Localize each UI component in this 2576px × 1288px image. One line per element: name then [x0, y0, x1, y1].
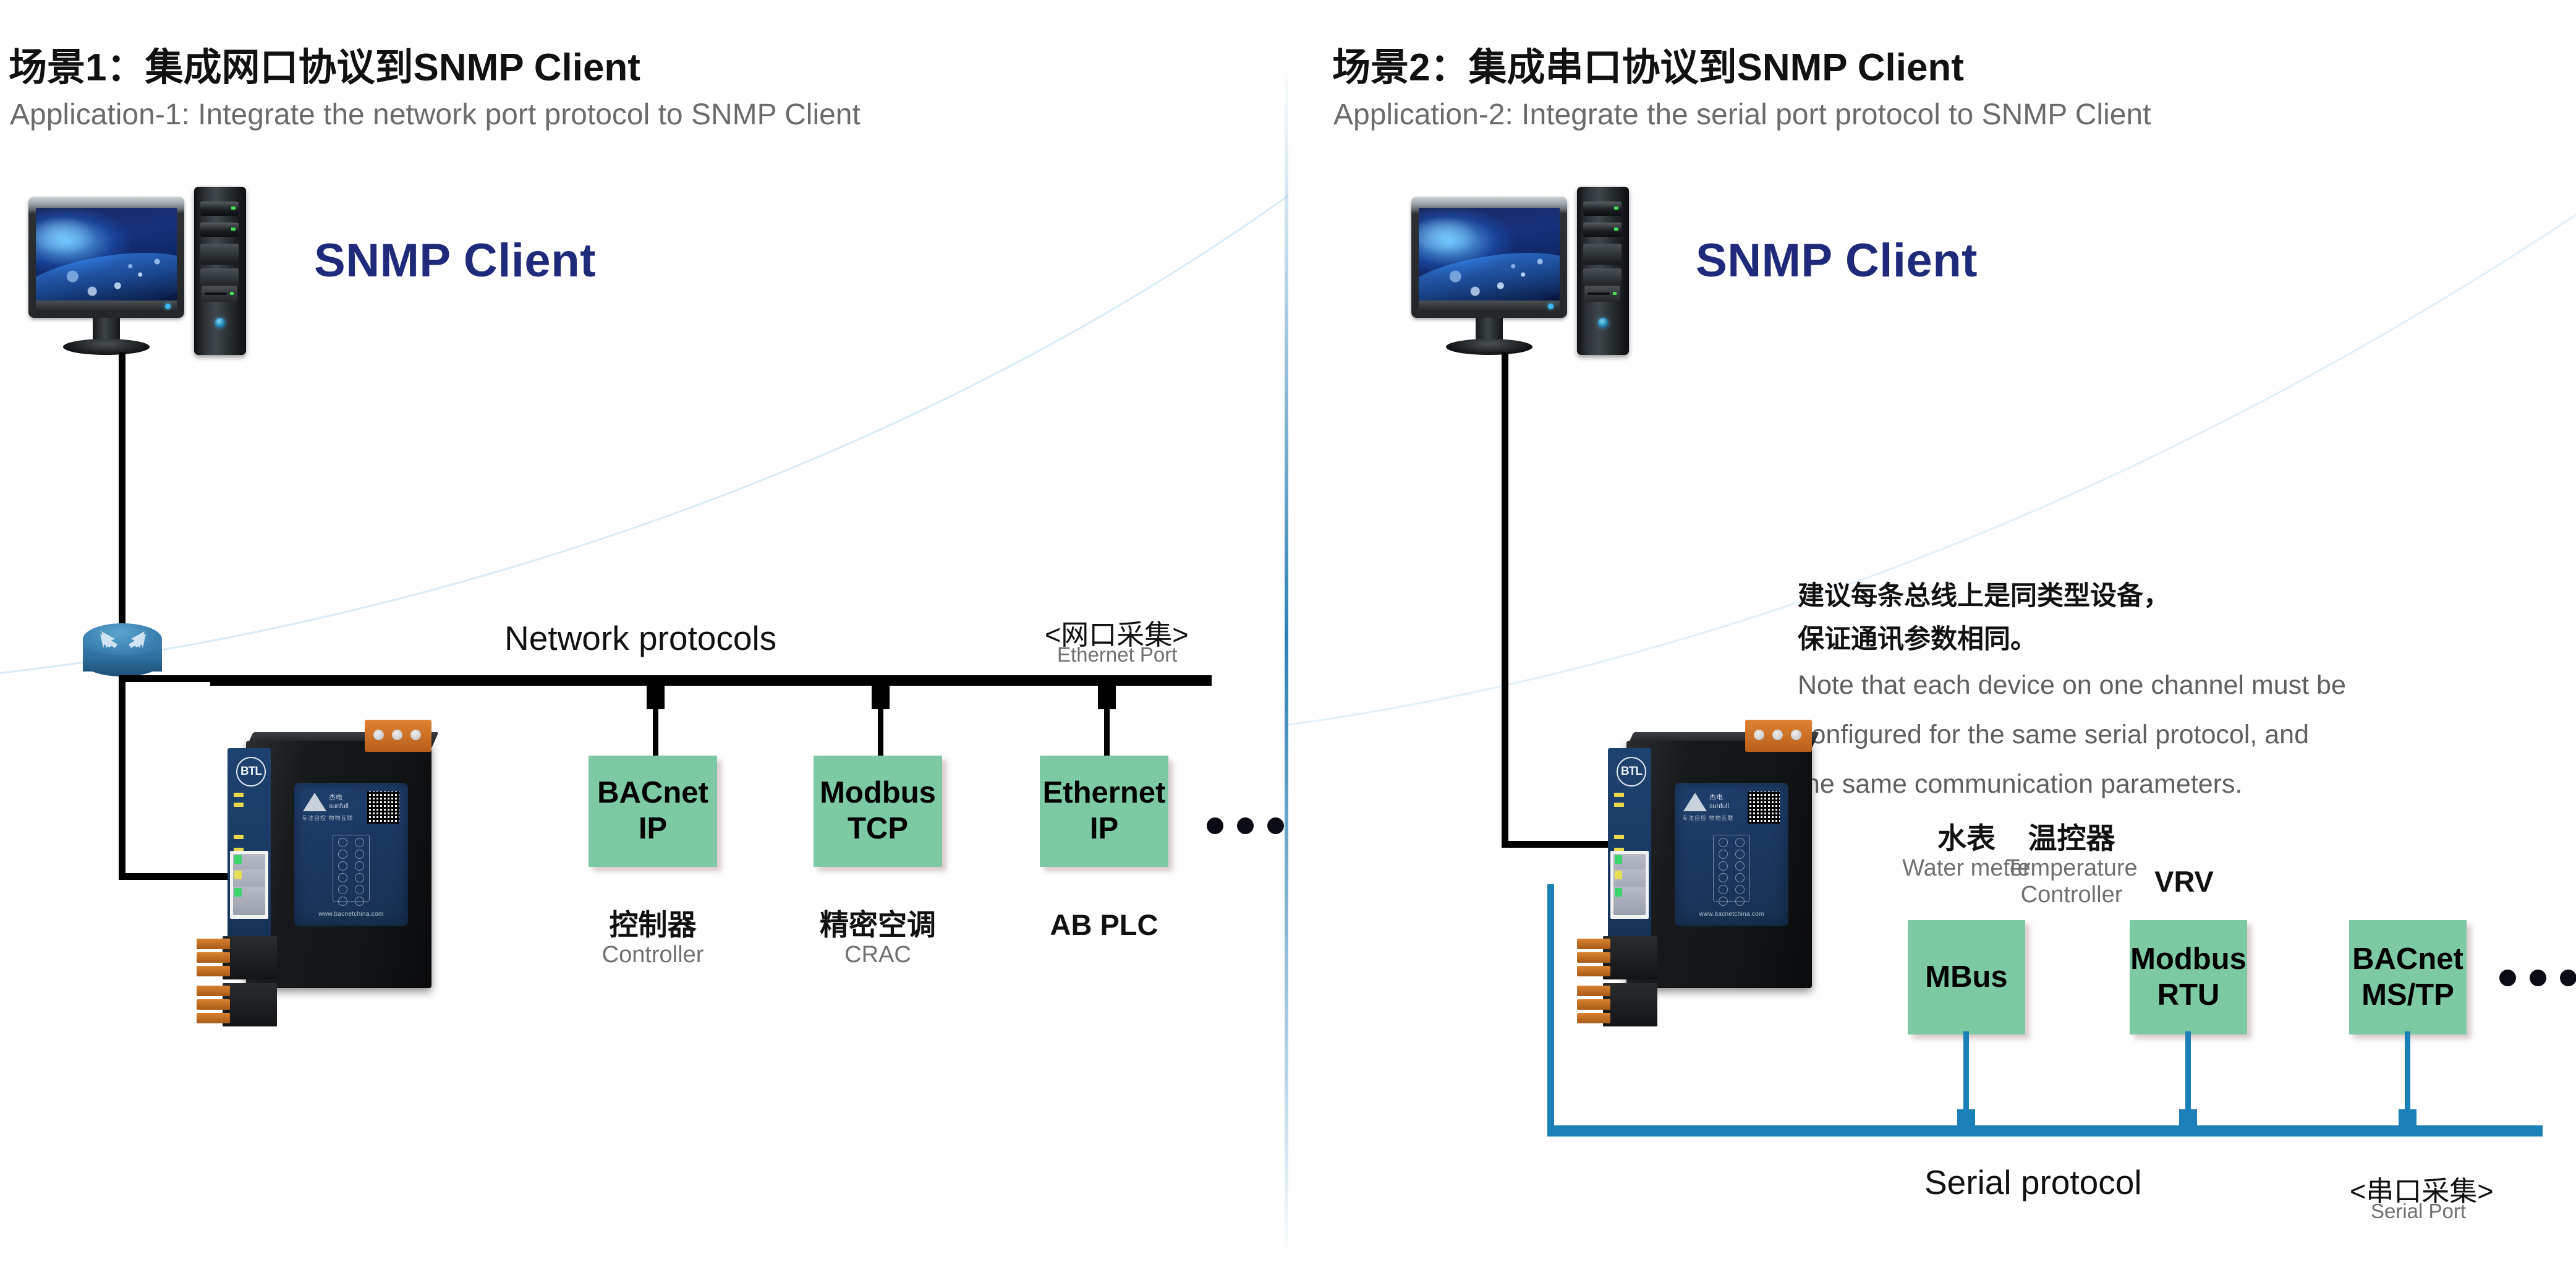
rj45-port-group — [230, 851, 268, 919]
brand-name: 杰电sunfull — [1709, 794, 1729, 811]
rj45-port-group — [1610, 851, 1649, 919]
note-line-en-2: configured for the same serial protocol,… — [1798, 711, 2309, 759]
qr-code — [367, 791, 399, 824]
drop-cable-2 — [878, 683, 883, 757]
serial-bus-riser — [1547, 884, 1554, 1132]
gateway-face-label: 杰电sunfull 专注自控 物物互联 www.bacnetchina.com — [294, 783, 408, 926]
network-protocols-caption: Network protocols — [504, 618, 776, 658]
protocol-box-modbus-rtu[interactable]: Modbus RTU — [2130, 920, 2247, 1034]
power-terminal-block — [365, 720, 431, 752]
btl-certification-logo: BTL — [1617, 757, 1646, 787]
protocol-box-modbus-tcp[interactable]: Modbus TCP — [814, 756, 942, 867]
page-subtitle-en-right: Application-2: Integrate the serial port… — [1333, 98, 2151, 132]
monitor-stand-base — [1446, 339, 1532, 355]
btl-certification-logo: BTL — [236, 757, 266, 787]
note-line-en-3: the same communication parameters. — [1798, 761, 2242, 808]
monitor-stand-base — [63, 339, 150, 355]
vendor-url: www.bacnetchina.com — [294, 911, 408, 918]
monitor-screen — [1419, 208, 1560, 301]
protocol-line-1: Ethernet — [1043, 775, 1166, 811]
ethernet-port-label-en: Ethernet Port — [1057, 643, 1177, 667]
device-name-en: CRAC — [783, 942, 973, 968]
protocol-line-2: IP — [1090, 811, 1118, 847]
serial-protocol-caption: Serial protocol — [1924, 1162, 2142, 1202]
monitor-screen — [36, 208, 177, 301]
vendor-url: www.bacnetchina.com — [1675, 911, 1788, 918]
protocol-line-1: MBus — [1925, 960, 2007, 996]
router-icon-left — [83, 623, 162, 680]
cable-router-to-gateway-left — [119, 675, 125, 879]
serial-terminal-blocks — [197, 936, 266, 1029]
serial-port-label-en: Serial Port — [2371, 1200, 2466, 1223]
protocol-line-1: BACnet — [597, 775, 708, 811]
snmp-client-label-left: SNMP Client — [314, 234, 596, 288]
gateway-face-label: 杰电sunfull 专注自控 物物互联 www.bacnetchina.com — [1675, 783, 1788, 926]
monitor-chin — [36, 301, 177, 312]
terminal-pin-map — [333, 835, 370, 902]
note-line-cn-1: 建议每条总线上是同类型设备， — [1798, 575, 2170, 618]
protocol-line-1: BACnet — [2352, 942, 2463, 978]
protocol-box-mbus[interactable]: MBus — [1908, 920, 2025, 1034]
terminal-pin-map — [1713, 835, 1750, 902]
protocol-box-ethernet-ip[interactable]: Ethernet IP — [1040, 756, 1168, 867]
rj45-port-lan2 — [233, 887, 265, 915]
monitor-icon — [28, 197, 184, 318]
brand-name: 杰电sunfull — [329, 794, 349, 811]
page-subtitle-en-left: Application-1: Integrate the network por… — [10, 98, 861, 132]
serial-bus-line — [1547, 1125, 2543, 1137]
drop-cable-3 — [1104, 683, 1110, 757]
device-name-en: Controller — [558, 942, 748, 968]
device-name-cn: 精密空调 — [783, 909, 973, 942]
pc-tower-icon — [1577, 187, 1629, 355]
cable-pc-to-router-left — [119, 352, 125, 649]
cable-pc-to-gateway-right — [1502, 352, 1508, 847]
protocol-line-2: IP — [639, 811, 667, 847]
router-arrows-icon — [96, 628, 150, 652]
protocol-line-1: Modbus — [2130, 942, 2247, 978]
page-title-cn-right: 场景2：集成串口协议到SNMP Client — [1332, 36, 1964, 92]
protocol-line-2: RTU — [2157, 978, 2220, 1013]
power-terminal-block — [1745, 720, 1812, 752]
monitor-chin — [1419, 301, 1560, 312]
device-caption-controller: 控制器 Controller — [558, 909, 748, 968]
cable-router-to-bus-left — [119, 675, 218, 682]
page-title-cn-left: 场景1：集成网口协议到SNMP Client — [9, 36, 640, 92]
monitor-icon — [1411, 197, 1567, 318]
protocol-line-1: Modbus — [820, 775, 936, 811]
device-caption-vrv: VRV — [2079, 866, 2289, 898]
more-devices-ellipsis-right — [2499, 970, 2576, 986]
device-caption-ab-plc: AB PLC — [1009, 909, 1199, 942]
status-leds-power — [1614, 793, 1624, 812]
scenario-2-panel: 场景2：集成串口协议到SNMP Client Application-2: In… — [1288, 0, 2576, 1288]
qr-code — [1748, 791, 1780, 824]
device-name-cn: 温控器 — [1966, 822, 2177, 855]
brand-slogan: 专注自控 物物互联 — [302, 814, 354, 822]
device-name-cn: VRV — [2079, 866, 2289, 898]
device-caption-crac: 精密空调 CRAC — [783, 909, 973, 968]
protocol-line-2: TCP — [848, 811, 908, 847]
protocol-box-bacnet-mstp[interactable]: BACnet MS/TP — [2349, 920, 2467, 1034]
pc-tower-icon — [194, 187, 246, 355]
sunfull-logo-icon — [303, 793, 326, 811]
note-line-cn-2: 保证通讯参数相同。 — [1798, 618, 2037, 662]
more-devices-ellipsis-left — [1207, 817, 1284, 834]
serial-terminal-blocks — [1577, 936, 1646, 1029]
scenario-1-panel: 场景1：集成网口协议到SNMP Client Application-1: In… — [0, 0, 1288, 1288]
drop-cable-1 — [653, 683, 658, 757]
brand-slogan: 专注自控 物物互联 — [1682, 814, 1734, 822]
device-name-cn: 控制器 — [558, 909, 748, 942]
snmp-client-label-right: SNMP Client — [1696, 234, 1978, 288]
device-name-cn: AB PLC — [1009, 909, 1199, 942]
status-leds-power — [234, 793, 244, 812]
note-line-en-1: Note that each device on one channel mus… — [1798, 662, 2346, 709]
rj45-port-lan2 — [1613, 887, 1646, 915]
ethernet-bus-line — [210, 675, 1212, 686]
protocol-line-2: MS/TP — [2361, 978, 2454, 1013]
sunfull-logo-icon — [1683, 793, 1707, 811]
protocol-box-bacnet-ip[interactable]: BACnet IP — [589, 756, 717, 867]
